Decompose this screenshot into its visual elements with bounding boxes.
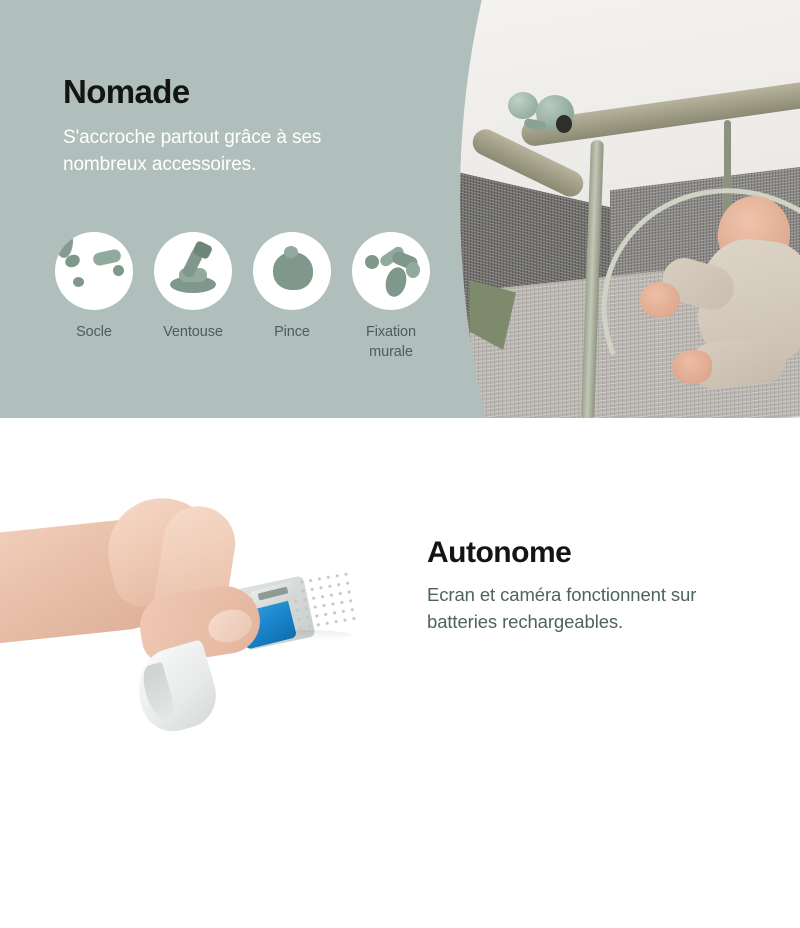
fixation-murale-icon (352, 232, 430, 310)
autonome-copy-block: Autonome Ecran et caméra fonctionnent su… (427, 536, 757, 636)
socle-arm-shape (92, 248, 122, 267)
socle-tip-shape (113, 265, 124, 276)
accessory-label-pince: Pince (274, 322, 310, 342)
baby-hand (640, 282, 680, 318)
nomade-subtitle: S'accroche partout grâce à ses nombreux … (63, 125, 403, 179)
nomade-copy-block: Nomade S'accroche partout grâce à ses no… (63, 74, 403, 179)
accessory-list: Socle Ventouse Pince (55, 232, 430, 362)
accessory-item-fixation-murale[interactable]: Fixation murale (352, 232, 430, 362)
speaker-grille-icon (288, 569, 361, 635)
socle-icon (55, 232, 133, 310)
accessory-item-socle[interactable]: Socle (55, 232, 133, 362)
camera-mount-icon (508, 92, 538, 119)
socle-knob-b-shape (73, 277, 84, 287)
camera-lens-icon (556, 115, 572, 133)
fixation-tip-shape (406, 262, 420, 278)
accessory-item-pince[interactable]: Pince (253, 232, 331, 362)
accessory-label-ventouse: Ventouse (163, 322, 223, 342)
pince-icon (253, 232, 331, 310)
ventouse-icon (154, 232, 232, 310)
autonome-section: Autonome Ecran et caméra fonctionnent su… (0, 418, 800, 928)
fixation-ball-shape (365, 255, 379, 269)
accessory-item-ventouse[interactable]: Ventouse (154, 232, 232, 362)
autonome-subtitle: Ecran et caméra fonctionnent sur batteri… (427, 582, 757, 636)
accessory-label-fixation-murale: Fixation murale (366, 322, 416, 362)
autonome-title: Autonome (427, 536, 757, 569)
baby-foot (672, 350, 712, 384)
nomade-title: Nomade (63, 74, 403, 110)
accessory-label-socle: Socle (76, 322, 112, 342)
nomade-section: Nomade S'accroche partout grâce à ses no… (0, 0, 800, 418)
hand-inserting-battery-photo (0, 478, 400, 778)
pince-top-shape (284, 246, 298, 258)
